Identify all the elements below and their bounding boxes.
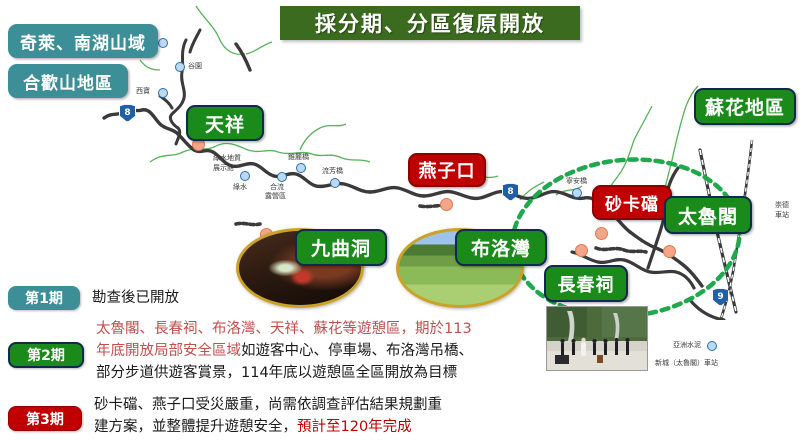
- legend-row-phase3: 第3期 砂卡礑、燕子口受災嚴重，尚需依調查評估結果規劃重 建方案，並整體提升遊憩…: [8, 394, 442, 438]
- legend-text-phase2-line1-red: 太魯閣、長春祠、布洛灣、天祥、蘇花等遊憩區，期於113: [96, 321, 472, 337]
- map-dot-damage-7: [663, 245, 676, 258]
- map-dot-top: [158, 38, 168, 48]
- map-label-guyuan: 谷園: [188, 61, 202, 71]
- map-dot-zhuilu: [296, 163, 306, 173]
- map-label-chongde-1: 崇德: [775, 200, 789, 210]
- map-dot-heliu: [277, 172, 287, 182]
- legend-text-phase2-line2-red: 年底開放局部安全區域: [96, 343, 241, 359]
- legend-text-phase2-line2: 年底開放局部安全區域如遊客中心、停車場、布洛灣吊橋、: [96, 340, 473, 362]
- map-label-liufang: 流芳橋: [322, 166, 343, 176]
- map-label-suhua-text: 蘇花地區: [705, 93, 785, 120]
- highway-shield-8-mid-number: 8: [507, 187, 513, 197]
- map-label-tianxiang[interactable]: 天祥: [186, 105, 264, 141]
- map-label-heliu-2: 露營區: [265, 191, 286, 201]
- legend-row-phase2: 第2期 太魯閣、長春祠、布洛灣、天祥、蘇花等遊憩區，期於113 年底開放局部安全…: [8, 318, 473, 384]
- legend-panel: 第1期 勘查後已開放 第2期 太魯閣、長春祠、布洛灣、天祥、蘇花等遊憩區，期於1…: [0, 282, 545, 442]
- map-label-zhuilu: 錐麓橋: [288, 152, 309, 162]
- map-dot-damage-3: [440, 198, 453, 211]
- map-dot-asia-cement: [707, 341, 717, 351]
- legend-text-phase1: 勘查後已開放: [92, 286, 179, 309]
- legend-text-phase3-line2-red: 預計至120年完成: [297, 419, 412, 435]
- map-label-changchunci-text: 長春祠: [558, 271, 615, 297]
- photo-waterfall-concert: [546, 306, 648, 371]
- map-label-asia-cement: 亞洲水泥: [673, 340, 701, 350]
- map-dot-liufang: [330, 178, 340, 188]
- photo-waterfall-concert-art: [547, 307, 647, 370]
- map-label-jiuqudong[interactable]: 九曲洞: [295, 229, 387, 266]
- map-label-tianxiang-text: 天祥: [205, 110, 245, 137]
- map-label-buluowan[interactable]: 布洛灣: [455, 229, 547, 266]
- slide-title: 採分期、分區復原開放: [280, 6, 580, 40]
- map-label-taroko-text: 太魯閣: [678, 202, 738, 229]
- legend-text-phase2: 太魯閣、長春祠、布洛灣、天祥、蘇花等遊憩區，期於113 年底開放局部安全區域如遊…: [96, 318, 473, 384]
- slide-root: 8 8 8 9 谷園 西寶 文山溫泉 綠水地質 展示館 綠水 合流 露營區 錐麓…: [0, 0, 800, 442]
- map-label-ningan: 寧安橋: [566, 176, 587, 186]
- map-label-suhua[interactable]: 蘇花地區: [694, 88, 796, 125]
- map-label-yanzikou-text: 燕子口: [419, 157, 476, 183]
- map-label-shakadang-text: 砂卡礑: [605, 190, 659, 215]
- map-label-changchunci[interactable]: 長春祠: [544, 265, 628, 302]
- legend-text-phase2-line3: 部分步道供遊客賞景，114年底以遊憩區全區開放為目標: [96, 362, 473, 384]
- legend-text-phase2-line2-black: 如遊客中心、停車場、布洛灣吊橋、: [241, 343, 473, 359]
- map-label-lushui-hall-2: 展示館: [213, 163, 234, 173]
- phase-badge-1-label: 第1期: [25, 288, 63, 308]
- map-dot-guyuan: [175, 62, 185, 72]
- map-label-taroko[interactable]: 太魯閣: [664, 196, 752, 234]
- map-dot-lushui: [240, 171, 250, 181]
- slide-title-text: 採分期、分區復原開放: [315, 8, 545, 38]
- map-label-qilai-nanhu-text: 奇萊、南湖山域: [20, 29, 146, 54]
- map-label-xincheng-station: 新城（太魯閣）車站: [655, 358, 718, 368]
- legend-text-phase3: 砂卡礑、燕子口受災嚴重，尚需依調查評估結果規劃重 建方案，並整體提升遊憩安全，預…: [94, 394, 442, 438]
- map-canvas: 8 8 8 9 谷園 西寶 文山溫泉 綠水地質 展示館 綠水 合流 露營區 錐麓…: [0, 0, 800, 320]
- phase-badge-2-label: 第2期: [27, 345, 65, 365]
- highway-shield-9-south-number: 9: [717, 292, 723, 302]
- phase-badge-3[interactable]: 第3期: [8, 406, 82, 431]
- map-label-shakadang[interactable]: 砂卡礑: [592, 185, 672, 220]
- map-label-lushui-hall-1: 綠水地質: [213, 153, 241, 163]
- map-dot-damage-5: [595, 227, 608, 240]
- map-label-xibao: 西寶: [136, 86, 150, 96]
- map-label-yanzikou[interactable]: 燕子口: [408, 153, 486, 187]
- legend-text-phase3-line2-black: 建方案，並整體提升遊憩安全，: [94, 419, 297, 435]
- map-dot-ningan: [572, 188, 582, 198]
- map-label-buluowan-text: 布洛灣: [471, 234, 531, 261]
- map-dot-damage-6: [575, 244, 588, 257]
- map-label-qilai-nanhu[interactable]: 奇萊、南湖山域: [8, 24, 158, 58]
- legend-text-phase3-line1: 砂卡礑、燕子口受災嚴重，尚需依調查評估結果規劃重: [94, 394, 442, 416]
- legend-text-phase2-line1: 太魯閣、長春祠、布洛灣、天祥、蘇花等遊憩區，期於113: [96, 318, 473, 340]
- legend-text-phase3-line2: 建方案，並整體提升遊憩安全，預計至120年完成: [94, 416, 442, 438]
- map-label-chongde-2: 車站: [775, 210, 789, 220]
- map-dot-xibao: [158, 88, 168, 98]
- map-label-jiuqudong-text: 九曲洞: [311, 234, 371, 261]
- map-label-hehuanshan[interactable]: 合歡山地區: [8, 64, 128, 98]
- map-label-lushui: 綠水: [233, 182, 247, 192]
- phase-badge-1[interactable]: 第1期: [8, 286, 80, 310]
- legend-row-phase1: 第1期 勘查後已開放: [8, 286, 179, 310]
- highway-shield-8-west-number: 8: [124, 108, 130, 118]
- phase-badge-3-label: 第3期: [26, 409, 64, 429]
- legend-text-phase1-line1: 勘查後已開放: [92, 287, 179, 309]
- phase-badge-2[interactable]: 第2期: [8, 342, 84, 368]
- map-label-hehuanshan-text: 合歡山地區: [23, 69, 113, 94]
